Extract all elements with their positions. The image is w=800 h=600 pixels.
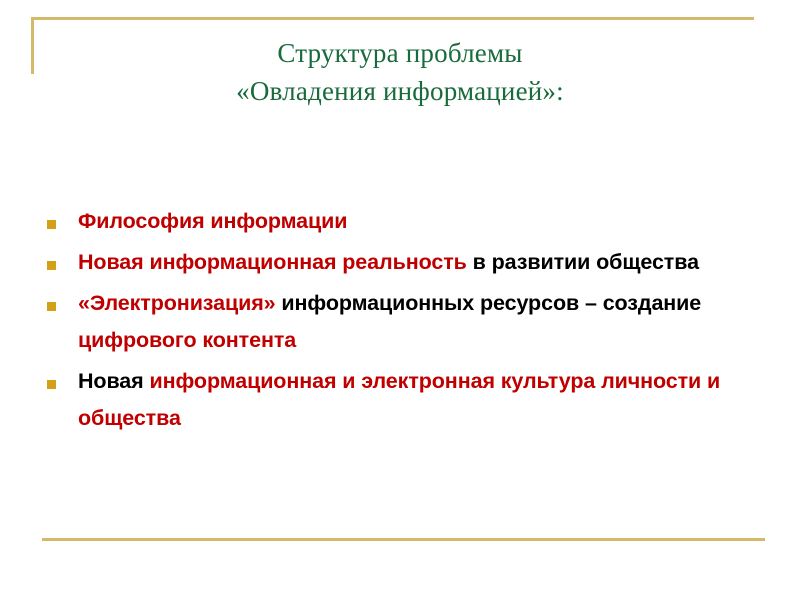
list-item-text: Новая информационная и электронная культ… <box>78 363 756 437</box>
square-bullet-icon <box>47 302 56 311</box>
slide-title-line-2: «Овладения информацией»: <box>0 72 800 110</box>
square-bullet-icon <box>47 220 56 229</box>
list-item-text: Философия информации <box>78 203 756 240</box>
text-run: Философия информации <box>78 209 347 233</box>
slide-canvas: Структура проблемы «Овладения информацие… <box>0 0 800 600</box>
text-run: Новая информационная реальность <box>78 250 467 274</box>
top-gold-rule <box>32 17 754 20</box>
text-run: Новая <box>78 369 149 393</box>
list-item-text: Новая информационная реальность в развит… <box>78 244 756 281</box>
list-item: Философия информации <box>44 203 756 240</box>
slide-title-line-1: Структура проблемы <box>0 34 800 72</box>
text-run: информационная и электронная культура ли… <box>78 369 720 430</box>
text-run: цифрового контента <box>78 328 296 352</box>
text-run: информационных ресурсов – создание <box>281 291 701 315</box>
bullet-list: Философия информации Новая информационна… <box>44 203 756 441</box>
slide-title: Структура проблемы «Овладения информацие… <box>0 34 800 110</box>
text-run: «Электронизация» <box>78 291 276 315</box>
list-item-text: «Электронизация» информационных ресурсов… <box>78 285 756 359</box>
square-bullet-icon <box>47 261 56 270</box>
bottom-gold-rule <box>42 538 765 541</box>
list-item: Новая информационная реальность в развит… <box>44 244 756 281</box>
text-run: в развитии общества <box>473 250 699 274</box>
square-bullet-icon <box>47 380 56 389</box>
list-item: Новая информационная и электронная культ… <box>44 363 756 437</box>
list-item: «Электронизация» информационных ресурсов… <box>44 285 756 359</box>
